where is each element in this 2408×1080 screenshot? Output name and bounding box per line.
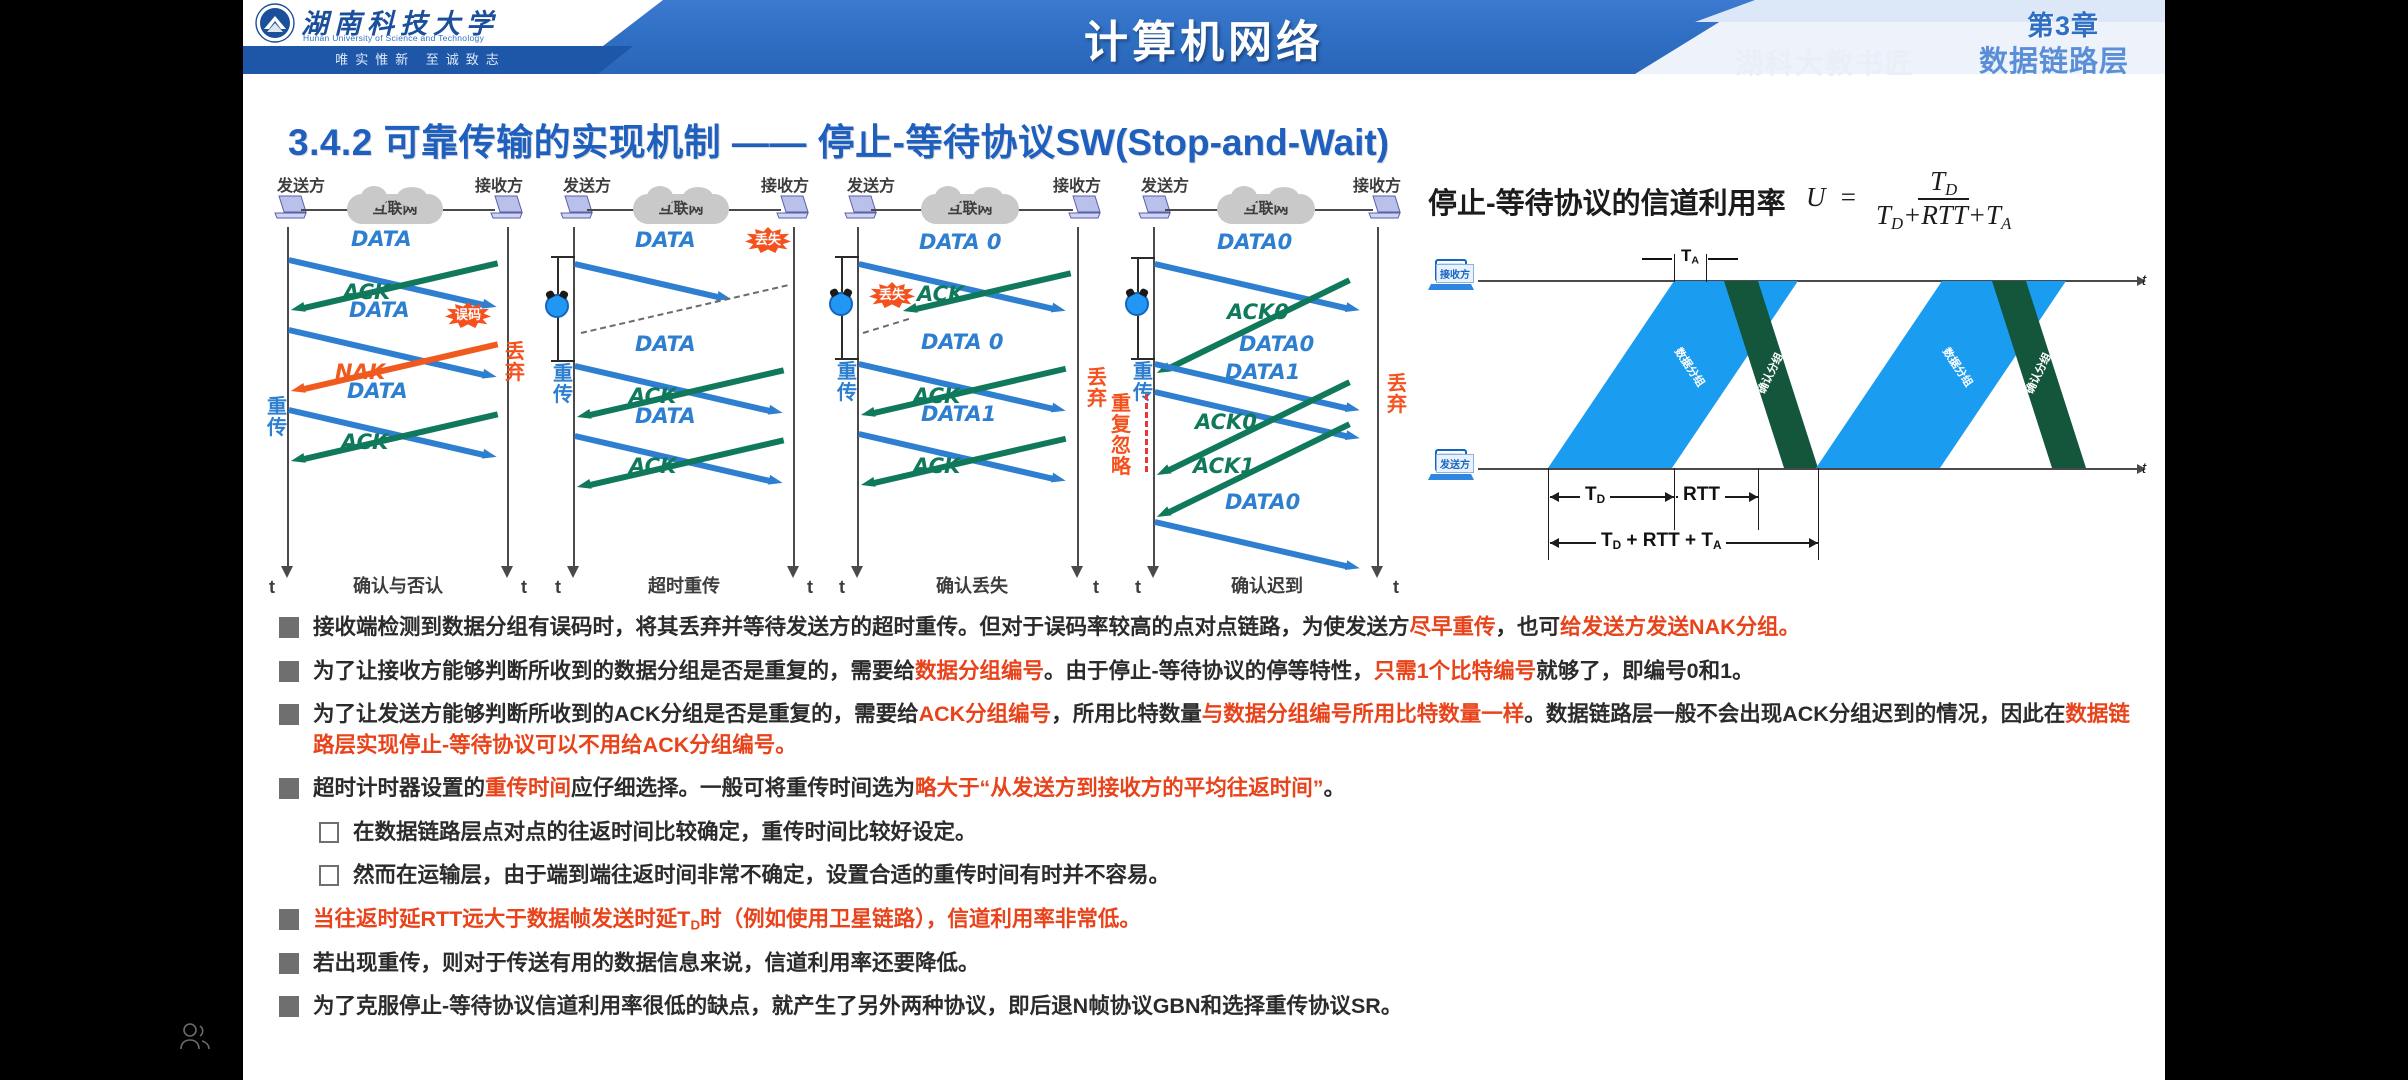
receiver-laptop-icon bbox=[1067, 194, 1101, 220]
internet-cloud: 互联网 bbox=[633, 194, 729, 224]
link-wire-right bbox=[1315, 209, 1373, 211]
utilization-formula: U = TD TD+RTT+TA bbox=[1806, 166, 2023, 234]
message-label: DATA bbox=[635, 332, 696, 356]
message-label: ACK0 bbox=[1227, 300, 1289, 324]
bullet-segment: 在数据链路层点对点的往返时间比较确定，重传时间比较好设定。 bbox=[353, 820, 977, 844]
bullet-segment: 为了让发送方能够判断所收到的ACK分组是否是重复的，需要给 bbox=[313, 702, 919, 726]
bullet-text: 在数据链路层点对点的往返时间比较确定，重传时间比较好设定。 bbox=[353, 820, 977, 844]
message-label: DATA bbox=[635, 404, 696, 428]
bullet-segment: 给发送方发送NAK分组。 bbox=[1560, 615, 1800, 639]
message-label: DATA0 bbox=[1239, 332, 1314, 356]
bullet-segment: 当往返时延RTT远大于数据帧发送时延T bbox=[313, 907, 690, 931]
duplicate-ignore-dashed bbox=[1145, 394, 1148, 472]
diagram-caption: 确认与否认 bbox=[273, 572, 523, 598]
timer-clock-icon bbox=[1125, 292, 1149, 316]
ack-block-label: 确认分组 bbox=[1753, 350, 1787, 397]
section-number: 3.4.2 bbox=[288, 122, 373, 163]
square-bullet-icon bbox=[279, 996, 299, 1017]
message-label: ACK1 bbox=[1193, 454, 1255, 478]
diagram-caption: 确认丢失 bbox=[843, 572, 1101, 598]
receiver-label: 接收方 bbox=[475, 172, 523, 196]
utilization-heading: 停止-等待协议的信道利用率 bbox=[1428, 180, 1786, 222]
formula-lhs: U = bbox=[1806, 182, 1857, 212]
sender-label: 发送方 bbox=[277, 172, 325, 196]
square-bullet-icon bbox=[279, 909, 299, 930]
bullet-text: 超时计时器设置的重传时间应仔细选择。一般可将重传时间选为略大于“从发送方到接收方… bbox=[313, 776, 1345, 800]
sender-axis-time-label: t bbox=[2142, 460, 2146, 477]
loss-burst-badge: 丢失 bbox=[745, 227, 791, 253]
ta-arrow-left bbox=[1642, 258, 1672, 260]
bullet-text: 然而在运输层，由于端到端往返时间非常不确定，设置合适的重传时间有时并不容易。 bbox=[353, 863, 1170, 887]
receiver-label: 接收方 bbox=[1053, 172, 1101, 196]
retransmit-label: 重传 bbox=[1133, 362, 1153, 404]
link-wire-left bbox=[301, 209, 353, 211]
message-arrow bbox=[574, 258, 732, 305]
receiver-laptop-icon bbox=[1367, 194, 1401, 220]
receiver-label: 接收方 bbox=[1353, 172, 1401, 196]
timeout-brace-bottom bbox=[1131, 358, 1155, 360]
bullet-item: 接收端检测到数据分组有误码时，将其丢弃并等待发送方的超时重传。但对于误码率较高的… bbox=[271, 612, 2151, 643]
channel-utilization-panel: 停止-等待协议的信道利用率 U = TD TD+RTT+TA 接收方 t bbox=[1428, 180, 2148, 590]
sender-laptop-icon bbox=[843, 194, 877, 220]
bullet-item: 当往返时延RTT远大于数据帧发送时延TD时（例如使用卫星链路），信道利用率非常低… bbox=[271, 904, 2151, 935]
sequence-diagram-ack-lost: 发送方 接收方 互联网 t t DATA 0 ACK bbox=[843, 172, 1101, 592]
link-wire-right bbox=[729, 209, 781, 211]
internet-cloud: 互联网 bbox=[1217, 194, 1315, 224]
ta-arrow-right bbox=[1708, 258, 1738, 260]
bullet-segment: 只需1个比特编号 bbox=[1374, 659, 1536, 683]
bullet-text: 为了克服停止-等待协议信道利用率很低的缺点，就产生了另外两种协议，即后退N帧协议… bbox=[313, 994, 1402, 1018]
section-title-cn: 可靠传输的实现机制 —— 停止-等待协议 bbox=[384, 122, 1056, 163]
ta-tick-left bbox=[1674, 254, 1675, 282]
receiver-laptop-icon bbox=[775, 194, 809, 220]
bullet-segment: 超时计时器设置的 bbox=[313, 776, 485, 800]
message-label: DATA0 bbox=[1217, 230, 1292, 254]
timeout-brace-top bbox=[835, 256, 859, 258]
slide: 湖科大教书匠 湖南科技大学 Hunan University of Scienc… bbox=[243, 0, 2165, 1080]
bullet-text: 若出现重传，则对于传送有用的数据信息来说，信道利用率还要降低。 bbox=[313, 951, 980, 975]
message-label: ACK0 bbox=[1195, 410, 1257, 434]
receiver-lifeline bbox=[1377, 227, 1379, 567]
square-bullet-icon bbox=[279, 661, 299, 682]
bullet-segment: D bbox=[690, 917, 700, 932]
bullet-segment: 。 bbox=[1324, 776, 1346, 800]
receiver-lifeline bbox=[1077, 227, 1079, 567]
bullet-segment: 与数据分组编号所用比特数量一样 bbox=[1202, 702, 1525, 726]
bullet-segment: 数据分组编号 bbox=[915, 659, 1044, 683]
dim-tick-td bbox=[1674, 468, 1675, 530]
link-wire-right bbox=[1017, 209, 1073, 211]
timeout-brace-bottom bbox=[835, 358, 859, 360]
timer-clock-icon bbox=[829, 292, 853, 316]
message-label: DATA0 bbox=[1225, 490, 1300, 514]
bullet-segment: 为了让接收方能够判断所收到的数据分组是否是重复的，需要给 bbox=[313, 659, 915, 683]
bullet-segment: 若出现重传，则对于传送有用的数据信息来说，信道利用率还要降低。 bbox=[313, 951, 980, 975]
bullet-item: 为了让接收方能够判断所收到的数据分组是否是重复的，需要给数据分组编号。由于停止-… bbox=[271, 656, 2151, 687]
bullet-segment: 重传时间 bbox=[485, 776, 571, 800]
bullet-segment: ACK分组编号 bbox=[919, 702, 1052, 726]
td-label: TD bbox=[1580, 484, 1610, 506]
hollow-square-bullet-icon bbox=[319, 822, 339, 843]
bullet-segment: ，也可 bbox=[1496, 615, 1561, 639]
discard-label: 丢弃 bbox=[1387, 374, 1407, 416]
message-label: ACK bbox=[917, 282, 964, 306]
square-bullet-icon bbox=[279, 617, 299, 638]
timeout-brace-bottom bbox=[551, 360, 575, 362]
receiver-laptop-icon bbox=[489, 194, 523, 220]
square-bullet-icon bbox=[279, 704, 299, 725]
ta-tick-right bbox=[1706, 254, 1707, 282]
sequence-diagram-ack-nak: 发送方 接收方 互联网 t t DATA ACK bbox=[273, 172, 523, 592]
bullet-text: 为了让接收方能够判断所收到的数据分组是否是重复的，需要给数据分组编号。由于停止-… bbox=[313, 659, 1754, 683]
bullet-segment: 应仔细选择。一般可将重传时间选为 bbox=[571, 776, 915, 800]
link-wire-right bbox=[443, 209, 495, 211]
retransmit-label: 重传 bbox=[837, 362, 857, 404]
lost-path-dashed bbox=[863, 318, 909, 334]
bullet-list: 接收端检测到数据分组有误码时，将其丢弃并等待发送方的超时重传。但对于误码率较高的… bbox=[271, 612, 2151, 1035]
sender-laptop-icon bbox=[273, 194, 307, 220]
sender-laptop-icon bbox=[1137, 194, 1171, 220]
bullet-item: 若出现重传，则对于传送有用的数据信息来说，信道利用率还要降低。 bbox=[271, 948, 2151, 979]
bullet-text: 为了让发送方能够判断所收到的ACK分组是否是重复的，需要给ACK分组编号，所用比… bbox=[313, 702, 2130, 757]
sender-label: 发送方 bbox=[1141, 172, 1189, 196]
dim-tick-end bbox=[1818, 468, 1819, 560]
ta-label: TA bbox=[1676, 246, 1704, 267]
message-label: DATA bbox=[635, 228, 696, 252]
td-dimension bbox=[1550, 496, 1674, 498]
receiver-lifeline bbox=[507, 227, 509, 567]
link-wire-left bbox=[587, 209, 639, 211]
message-label: DATA1 bbox=[1225, 360, 1300, 384]
section-title: 3.4.2 可靠传输的实现机制 —— 停止-等待协议SW(Stop-and-Wa… bbox=[288, 112, 1389, 166]
message-label: DATA 0 bbox=[919, 230, 1002, 254]
sender-lifeline bbox=[857, 227, 859, 567]
timeout-brace-top bbox=[551, 256, 575, 258]
internet-cloud: 互联网 bbox=[921, 194, 1019, 224]
sender-label: 发送方 bbox=[847, 172, 895, 196]
message-label: DATA bbox=[351, 227, 412, 251]
receiver-axis-time-label: t bbox=[2142, 272, 2146, 289]
section-title-en: SW(Stop-and-Wait) bbox=[1055, 122, 1389, 163]
link-wire-left bbox=[1165, 209, 1223, 211]
sender-laptop-icon bbox=[559, 194, 593, 220]
screen: 湖科大教书匠 湖南科技大学 Hunan University of Scienc… bbox=[0, 0, 2408, 1080]
slide-header: 湖科大教书匠 湖南科技大学 Hunan University of Scienc… bbox=[243, 0, 2165, 74]
bullet-segment: ，所用比特数量 bbox=[1051, 702, 1202, 726]
message-arrow bbox=[1154, 516, 1361, 574]
message-label: ACK bbox=[913, 454, 960, 478]
bullet-segment: 。由于停止-等待协议的停等特性， bbox=[1044, 659, 1374, 683]
sender-time-axis bbox=[1478, 468, 2138, 470]
sender-node-label: 发送方 bbox=[1436, 454, 1474, 473]
message-label: ACK bbox=[341, 430, 388, 454]
formula-denominator: TD+RTT+TA bbox=[1864, 197, 2023, 230]
retransmit-label: 重传 bbox=[267, 397, 287, 439]
receiver-node-label: 接收方 bbox=[1436, 264, 1474, 283]
bullet-item: 为了克服停止-等待协议信道利用率很低的缺点，就产生了另外两种协议，即后退N帧协议… bbox=[271, 991, 2151, 1022]
sender-lifeline bbox=[573, 227, 575, 567]
sender-lifeline bbox=[287, 227, 289, 567]
total-label: TD + RTT + TA bbox=[1596, 530, 1726, 552]
chapter-subtitle: 数据链路层 bbox=[1979, 38, 2129, 80]
hollow-square-bullet-icon bbox=[319, 865, 339, 886]
sub-bullet-item: 在数据链路层点对点的往返时间比较确定，重传时间比较好设定。 bbox=[271, 817, 2151, 848]
message-label: ACK bbox=[629, 454, 676, 478]
bullet-text: 接收端检测到数据分组有误码时，将其丢弃并等待发送方的超时重传。但对于误码率较高的… bbox=[313, 615, 1800, 639]
rtt-label: RTT bbox=[1678, 484, 1725, 506]
dim-tick-rtt bbox=[1758, 468, 1759, 530]
square-bullet-icon bbox=[279, 953, 299, 974]
timer-clock-icon bbox=[545, 294, 569, 318]
sub-bullet-item: 然而在运输层，由于端到端往返时间非常不确定，设置合适的重传时间有时并不容易。 bbox=[271, 860, 2151, 891]
bullet-segment: 略大于“从发送方到接收方的平均往返时间” bbox=[915, 776, 1324, 800]
data-block-label: 数据分组 bbox=[1939, 344, 1977, 389]
people-watermark-icon bbox=[178, 1022, 212, 1050]
sequence-diagram-ack-delayed: 发送方 接收方 互联网 t t DATA0 ACK0 bbox=[1133, 172, 1401, 592]
bullet-item: 为了让发送方能够判断所收到的ACK分组是否是重复的，需要给ACK分组编号，所用比… bbox=[271, 699, 2151, 760]
discard-label: 丢弃 bbox=[1087, 368, 1107, 410]
bullet-segment: 然而在运输层，由于端到端往返时间非常不确定，设置合适的重传时间有时并不容易。 bbox=[353, 863, 1170, 887]
bullet-text: 当往返时延RTT远大于数据帧发送时延TD时（例如使用卫星链路），信道利用率非常低… bbox=[313, 907, 1141, 931]
bullet-item: 超时计时器设置的重传时间应仔细选择。一般可将重传时间选为略大于“从发送方到接收方… bbox=[271, 773, 2151, 804]
duplicate-ignore-label: 重复忽略 bbox=[1111, 394, 1131, 478]
bullet-segment: 接收端检测到数据分组有误码时，将其丢弃并等待发送方的超时重传。但对于误码率较高的… bbox=[313, 615, 1410, 639]
bullet-segment: 时（例如使用卫星链路），信道利用率非常低。 bbox=[700, 907, 1141, 931]
bullet-segment: 为了克服停止-等待协议信道利用率很低的缺点，就产生了另外两种协议，即后退N帧协议… bbox=[313, 994, 1402, 1018]
ack-block-label: 确认分组 bbox=[2021, 350, 2055, 397]
retransmit-label: 重传 bbox=[553, 364, 573, 406]
bullet-segment: 。数据链路层一般不会出现ACK分组迟到的情况，因此在 bbox=[1524, 702, 2065, 726]
data-block-label: 数据分组 bbox=[1671, 344, 1709, 389]
diagram-caption: 确认迟到 bbox=[1133, 572, 1401, 598]
sequence-diagram-timeout: 发送方 接收方 互联网 t t DATA 丢失 bbox=[559, 172, 809, 592]
link-wire-left bbox=[871, 209, 927, 211]
square-bullet-icon bbox=[279, 778, 299, 799]
bullet-segment: 就够了，即编号0和1。 bbox=[1536, 659, 1753, 683]
sender-label: 发送方 bbox=[563, 172, 611, 196]
discard-label: 丢弃 bbox=[505, 342, 525, 384]
course-title: 计算机网络 bbox=[243, 6, 2165, 70]
formula-fraction: TD TD+RTT+TA bbox=[1864, 166, 2023, 234]
message-label: DATA 0 bbox=[921, 330, 1004, 354]
bullet-segment: 尽早重传 bbox=[1410, 615, 1496, 639]
dim-tick-start bbox=[1548, 468, 1549, 560]
internet-cloud: 互联网 bbox=[347, 194, 443, 224]
message-label: DATA bbox=[349, 298, 410, 322]
formula-numerator: TD bbox=[1918, 166, 1969, 200]
timeout-brace-top bbox=[1131, 257, 1155, 259]
message-label: DATA bbox=[347, 379, 408, 403]
message-label: DATA1 bbox=[921, 402, 996, 426]
receiver-label: 接收方 bbox=[761, 172, 809, 196]
diagram-caption: 超时重传 bbox=[559, 572, 809, 598]
receiver-lifeline bbox=[793, 227, 795, 567]
